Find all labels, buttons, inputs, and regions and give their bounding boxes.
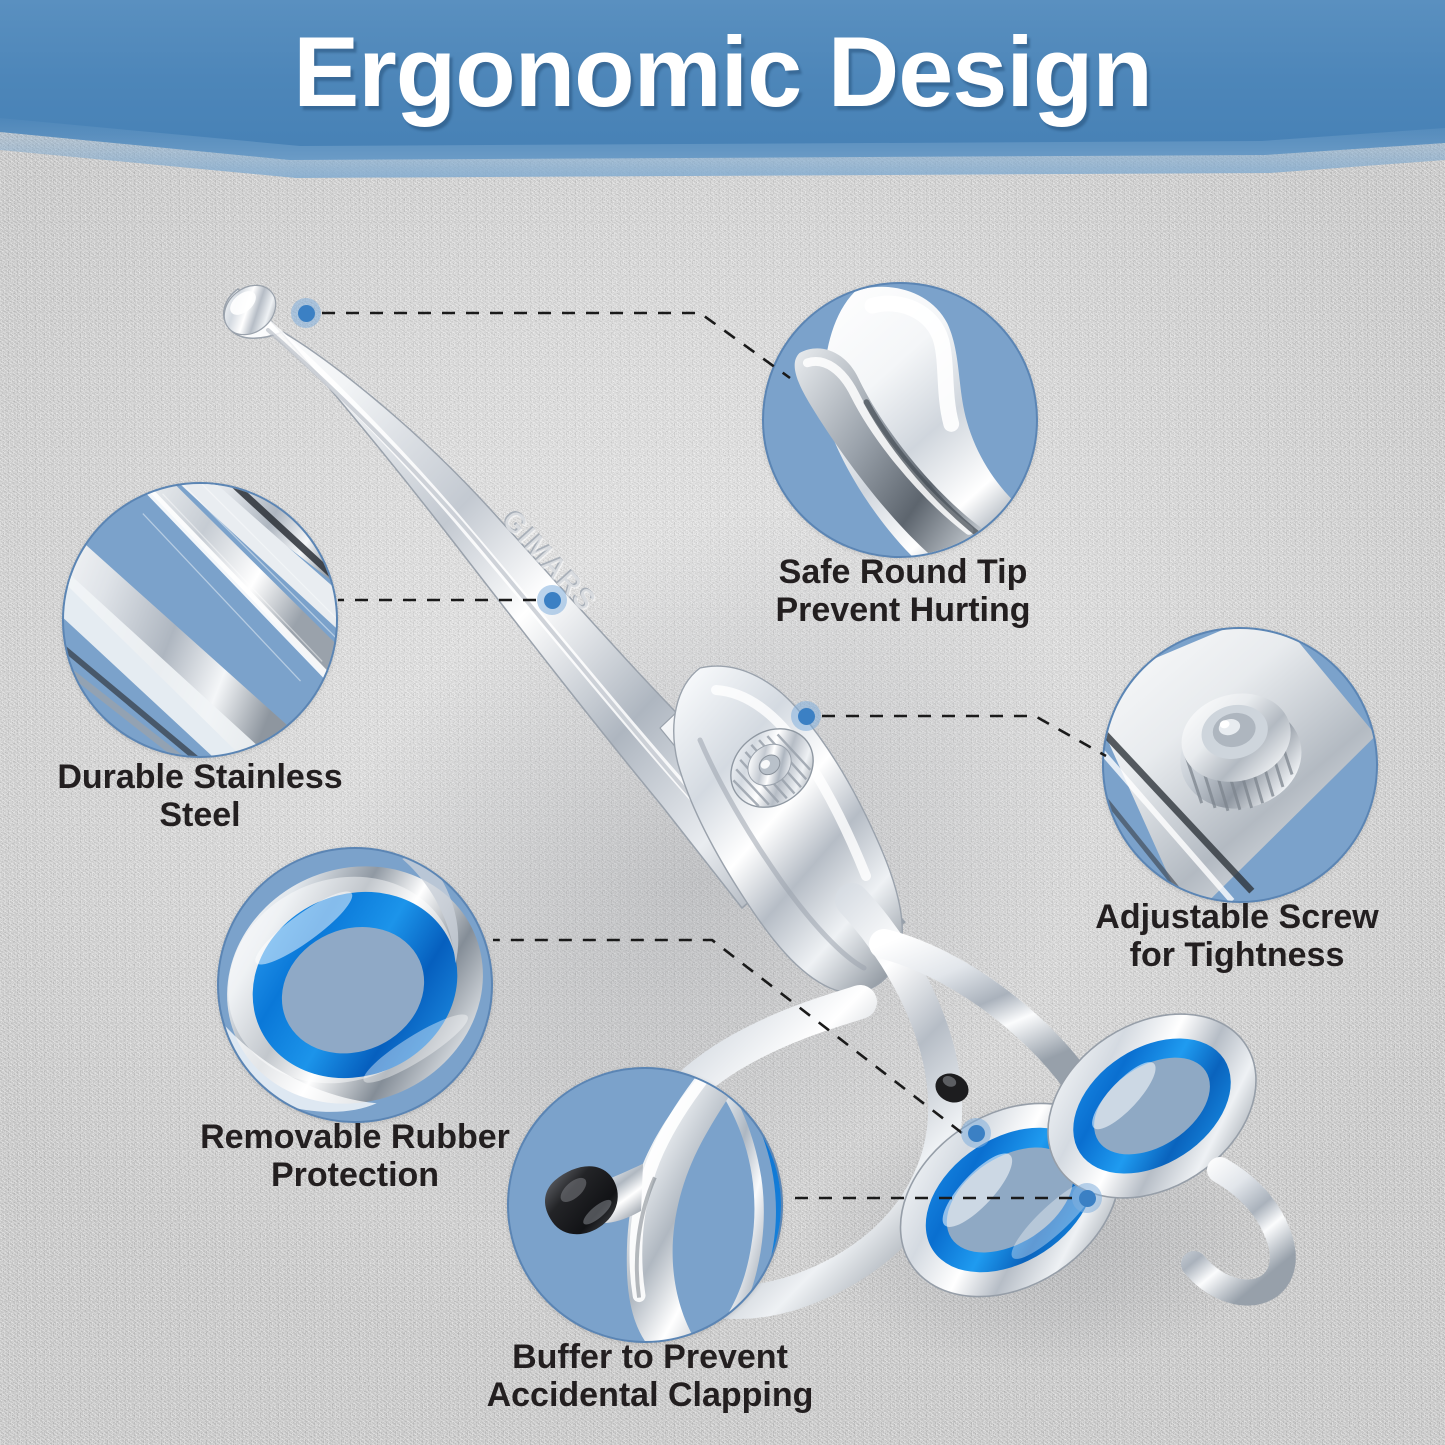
callout-circle-safe-round-tip bbox=[762, 282, 1038, 558]
zoom-art-screw bbox=[1104, 629, 1376, 901]
zoom-art-buffer-bumper bbox=[509, 1069, 781, 1341]
callout-circle-stainless-steel bbox=[62, 482, 338, 758]
dot-marker-removable-rubber[interactable] bbox=[961, 1118, 991, 1148]
dot-marker-buffer[interactable] bbox=[1072, 1183, 1102, 1213]
feature-label-adjustable-screw: Adjustable Screw for Tightness bbox=[1092, 898, 1382, 974]
dot-marker-stainless-steel[interactable] bbox=[537, 585, 567, 615]
zoom-art-round-tip bbox=[764, 284, 1036, 556]
zoom-art-blade-edges bbox=[64, 484, 336, 756]
feature-label-stainless-steel: Durable Stainless Steel bbox=[50, 758, 350, 834]
callout-circle-removable-rubber bbox=[217, 847, 493, 1123]
header-banner: Ergonomic Design bbox=[0, 0, 1445, 175]
page-title: Ergonomic Design bbox=[0, 22, 1445, 121]
feature-label-removable-rubber: Removable Rubber Protection bbox=[200, 1118, 510, 1194]
dot-marker-adjustable-screw[interactable] bbox=[791, 701, 821, 731]
dot-marker-safe-round-tip[interactable] bbox=[291, 298, 321, 328]
feature-label-buffer: Buffer to Prevent Accidental Clapping bbox=[480, 1338, 820, 1414]
zoom-art-rubber-ring bbox=[219, 849, 491, 1121]
infographic-stage: GIMARS GIMARS bbox=[0, 0, 1445, 1445]
feature-label-safe-round-tip: Safe Round Tip Prevent Hurting bbox=[773, 553, 1033, 629]
callout-circle-adjustable-screw bbox=[1102, 627, 1378, 903]
callout-circle-buffer bbox=[507, 1067, 783, 1343]
